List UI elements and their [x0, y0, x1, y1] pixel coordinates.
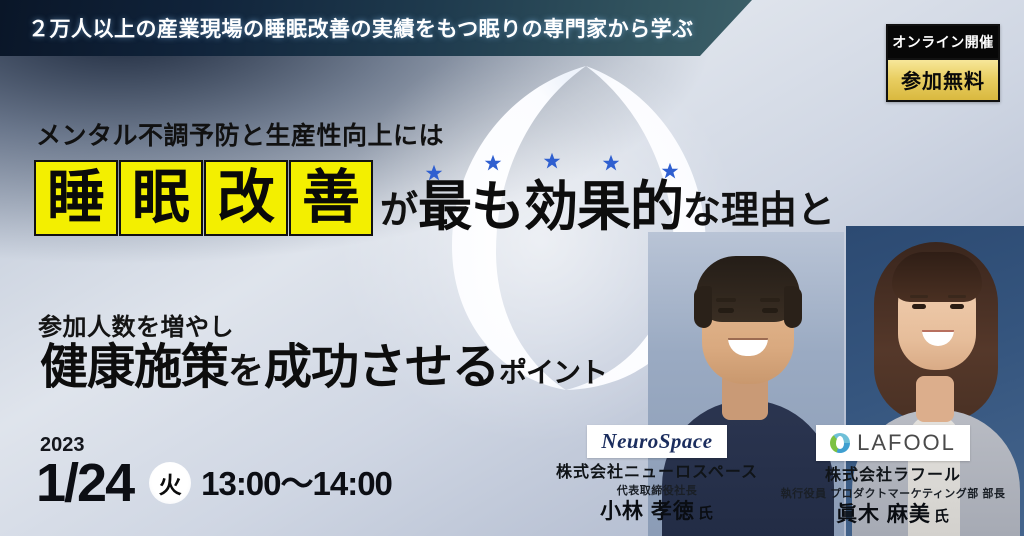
headline-main-2: 健康施策 を 成功させる ポイント: [40, 344, 607, 392]
company-title-right: 執行役員 プロダクトマーケティング部 部長: [766, 487, 1020, 501]
webinar-banner: ２万人以上の産業現場の睡眠改善の実績をもつ眠りの専門家から学ぶ オンライン開催 …: [0, 0, 1024, 536]
company-title-left: 代表取締役社長: [552, 484, 762, 498]
speaker-name-right-text: 眞木 麻美: [836, 503, 931, 526]
figure-hair-side-right: [784, 286, 802, 328]
badge-price-label: 参加無料: [888, 58, 998, 100]
highlight-char-2: 眠: [119, 160, 203, 236]
highlight-char-4: 善: [289, 160, 373, 236]
speaker-name-right-suffix: 氏: [934, 508, 950, 525]
headline-lead-2: 参加人数を増やし: [38, 307, 234, 342]
headline-connector: が: [380, 192, 418, 236]
figure-eye-left: [718, 308, 734, 313]
speaker-credit-right: LAFOOL 株式会社ラフール 執行役員 プロダクトマーケティング部 部長 眞木…: [766, 425, 1020, 527]
speaker-name-left-suffix: 氏: [698, 505, 714, 522]
figure-brow-left: [910, 295, 928, 298]
figure-fringe: [892, 252, 982, 302]
headline-particle: を: [228, 353, 264, 392]
figure-hair-side-left: [694, 286, 712, 328]
neurospace-logo: NeuroSpace: [587, 425, 726, 458]
figure-neck: [916, 376, 954, 422]
figure-brow-right: [948, 295, 966, 298]
event-date-row: 1/24 火 13:00〜14:00: [36, 456, 392, 510]
speaker-name-left-text: 小林 孝徳: [600, 500, 695, 523]
headline-lead-1: メンタル不調予防と生産性向上には: [36, 116, 444, 152]
speaker-name-right: 眞木 麻美氏: [766, 502, 1020, 527]
headline-emphasis: 最も効果的: [418, 180, 683, 236]
event-time: 13:00〜14:00: [201, 467, 392, 500]
headline-succeed: 成功させる: [264, 344, 499, 392]
figure-brow-left: [716, 298, 736, 302]
badge-format-label: オンライン開催: [888, 26, 998, 58]
lafool-logo-text: LAFOOL: [857, 430, 956, 456]
headline-main-1: 睡 眠 改 善 が 最も効果的 な理由と: [34, 160, 835, 236]
highlight-char-3: 改: [204, 160, 288, 236]
figure-brow-right: [760, 298, 780, 302]
lafool-logo-row: LAFOOL: [830, 430, 956, 456]
event-day-of-week: 火: [149, 462, 191, 504]
speaker-name-left: 小林 孝徳氏: [552, 499, 762, 524]
neurospace-logo-text: NeuroSpace: [601, 430, 712, 453]
headline-points: ポイント: [499, 359, 607, 392]
event-badge: オンライン開催 参加無料: [886, 24, 1000, 102]
company-name-left: 株式会社ニューロスペース: [552, 463, 762, 483]
headline-tail: な理由と: [683, 192, 835, 236]
figure-eye-right: [950, 304, 964, 309]
figure-eye-left: [912, 304, 926, 309]
highlight-char-1: 睡: [34, 160, 118, 236]
lafool-logo: LAFOOL: [816, 425, 970, 461]
speaker-credit-left: NeuroSpace 株式会社ニューロスペース 代表取締役社長 小林 孝徳氏: [552, 425, 762, 525]
event-month-day: 1/24: [36, 456, 133, 510]
lafool-mark-icon: [830, 433, 850, 453]
figure-eye-right: [762, 308, 778, 313]
top-banner-text: ２万人以上の産業現場の睡眠改善の実績をもつ眠りの専門家から学ぶ: [28, 13, 694, 43]
headline-policy: 健康施策: [40, 344, 228, 392]
company-name-right: 株式会社ラフール: [766, 466, 1020, 486]
